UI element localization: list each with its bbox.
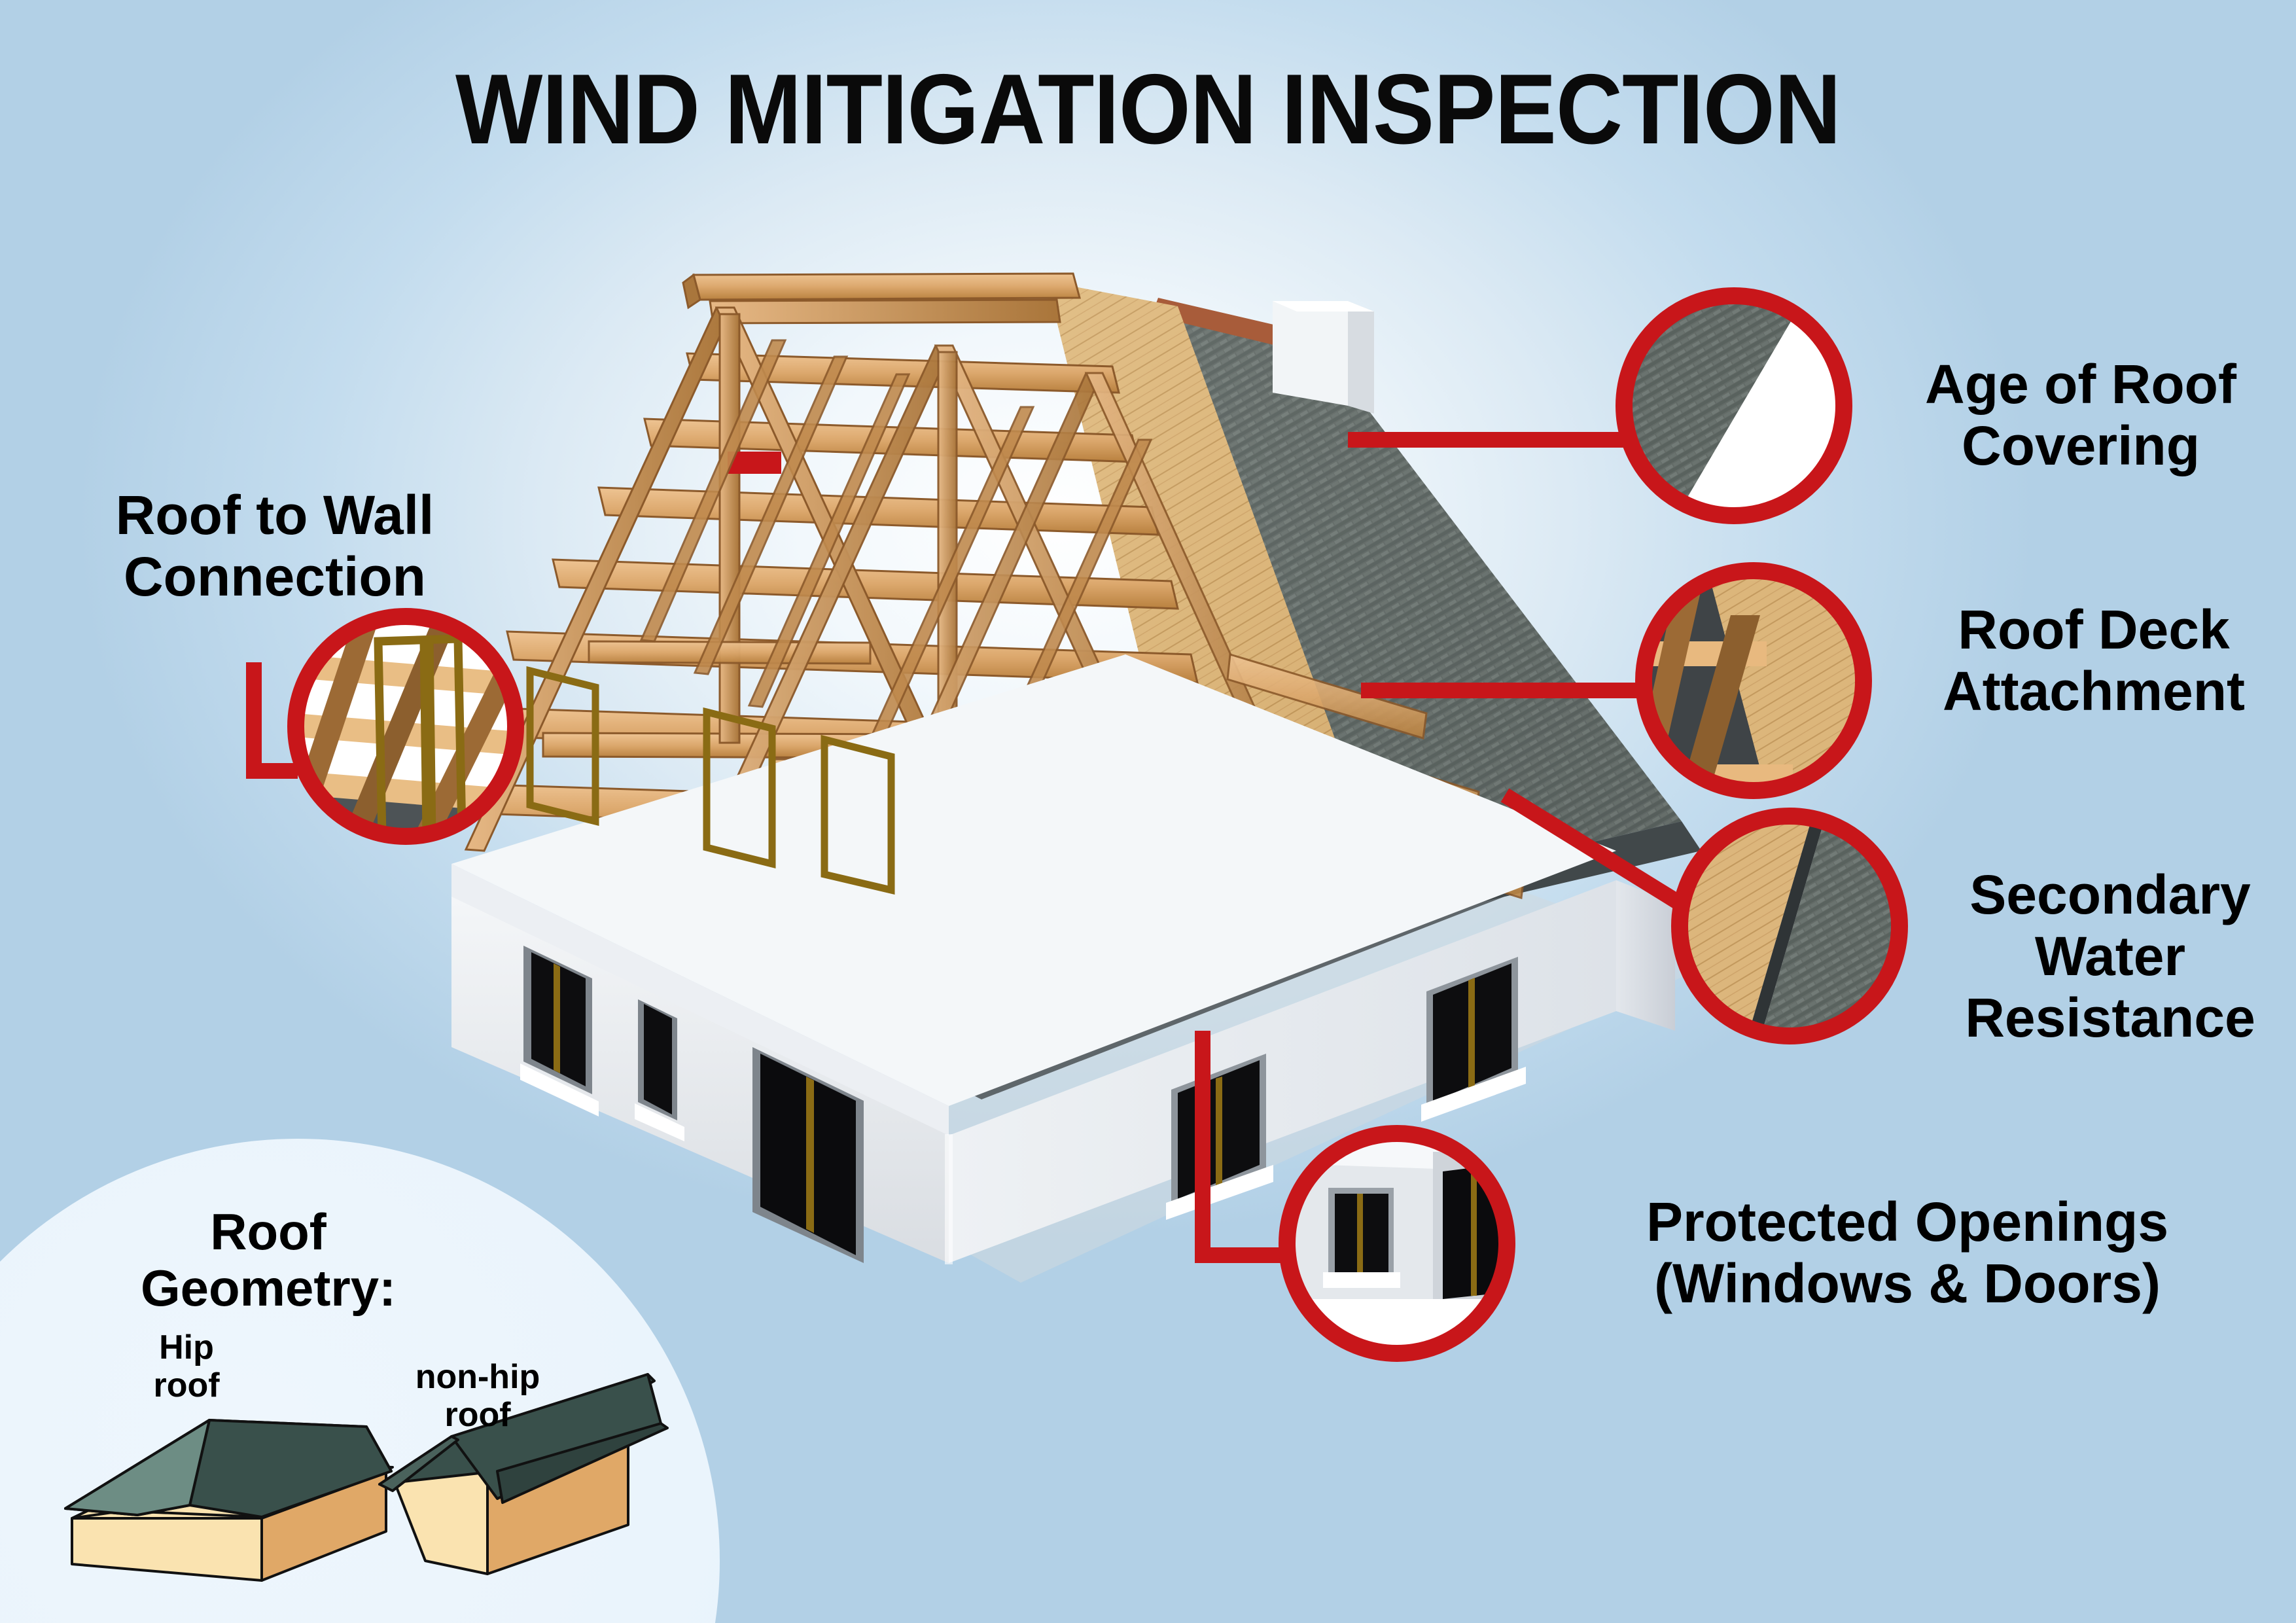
roof-geometry-heading: Roof Geometry: xyxy=(115,1204,422,1317)
hip-roof-label: Hip roof xyxy=(115,1329,258,1404)
label-roof-deck-attachment: Roof Deck Attachment xyxy=(1884,599,2296,722)
page-title: WIND MITIGATION INSPECTION xyxy=(80,58,2216,162)
roof-geometry-diagrams xyxy=(0,0,2296,1623)
label-age-of-roof-covering: Age of Roof Covering xyxy=(1871,353,2290,476)
label-protected-openings: Protected Openings (Windows & Doors) xyxy=(1583,1191,2231,1314)
label-secondary-water-resistance: Secondary Water Resistance xyxy=(1917,864,2296,1048)
infographic-canvas: WIND MITIGATION INSPECTION Age of Roof C… xyxy=(0,0,2296,1623)
non-hip-roof-label: non-hip roof xyxy=(386,1358,569,1434)
hip-roof-model xyxy=(65,1420,393,1580)
label-roof-to-wall-connection: Roof to Wall Connection xyxy=(65,484,484,607)
